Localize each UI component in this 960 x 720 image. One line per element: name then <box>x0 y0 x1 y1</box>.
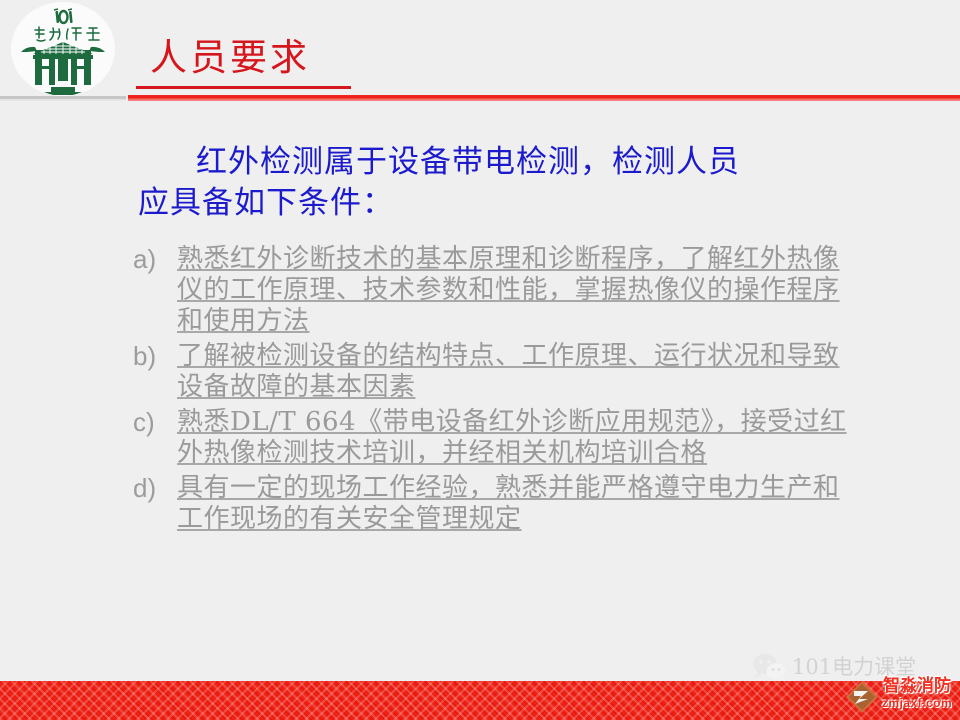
header-divider-gray <box>0 96 126 101</box>
list-item-text: 熟悉红外诊断技术的基本原理和诊断程序，了解红外热像仪的工作原理、技术参数和性能，… <box>177 244 848 337</box>
list-item: c) 熟悉DL/T 664《带电设备红外诊断应用规范》，接受过红外热像检测技术培… <box>133 407 848 469</box>
list-item-text: 熟悉DL/T 664《带电设备红外诊断应用规范》，接受过红外热像检测技术培训，并… <box>177 407 848 469</box>
brand-text-block: 智淼消防 zmjaxf.com <box>877 677 957 710</box>
list-item-text: 具有一定的现场工作经验，熟悉并能严格遵守电力生产和工作现场的有关安全管理规定 <box>177 473 848 535</box>
page-title: 人员要求 <box>150 36 310 80</box>
brand-watermark: 智淼消防 zmjaxf.com <box>845 676 957 718</box>
list-item: d) 具有一定的现场工作经验，熟悉并能严格遵守电力生产和工作现场的有关安全管理规… <box>133 473 848 535</box>
brand-name: 智淼消防 <box>877 677 957 696</box>
intro-line-1: 红外检测属于设备带电检测，检测人员 <box>196 144 740 180</box>
list-item-marker: c) <box>133 407 177 438</box>
header-divider-red <box>128 95 960 101</box>
logo-emblem-icon <box>11 2 115 96</box>
requirements-list: a) 熟悉红外诊断技术的基本原理和诊断程序，了解红外热像仪的工作原理、技术参数和… <box>133 244 848 539</box>
intro-line-2: 应具备如下条件： <box>138 185 394 221</box>
list-item: a) 熟悉红外诊断技术的基本原理和诊断程序，了解红外热像仪的工作原理、技术参数和… <box>133 244 848 337</box>
list-item: b) 了解被检测设备的结构特点、工作原理、运行状况和导致设备故障的基本因素 <box>133 341 848 403</box>
brand-url: zmjaxf.com <box>877 696 957 710</box>
intro-paragraph: 红外检测属于设备带电检测，检测人员 应具备如下条件： <box>138 142 848 224</box>
brand-mark-icon <box>845 680 879 714</box>
org-logo <box>11 2 115 96</box>
list-item-marker: d) <box>133 473 177 504</box>
list-item-text: 了解被检测设备的结构特点、工作原理、运行状况和导致设备故障的基本因素 <box>177 341 848 403</box>
footer-bar <box>0 681 960 720</box>
list-item-marker: a) <box>133 244 177 275</box>
wechat-icon <box>752 652 786 682</box>
list-item-marker: b) <box>133 341 177 372</box>
slide-header: 人员要求 <box>0 0 960 104</box>
slide-canvas: 人员要求 红外检测属于设备带电检测，检测人员 应具备如下条件： a) 熟悉红外诊… <box>0 0 960 720</box>
title-underline-rule <box>136 86 351 89</box>
